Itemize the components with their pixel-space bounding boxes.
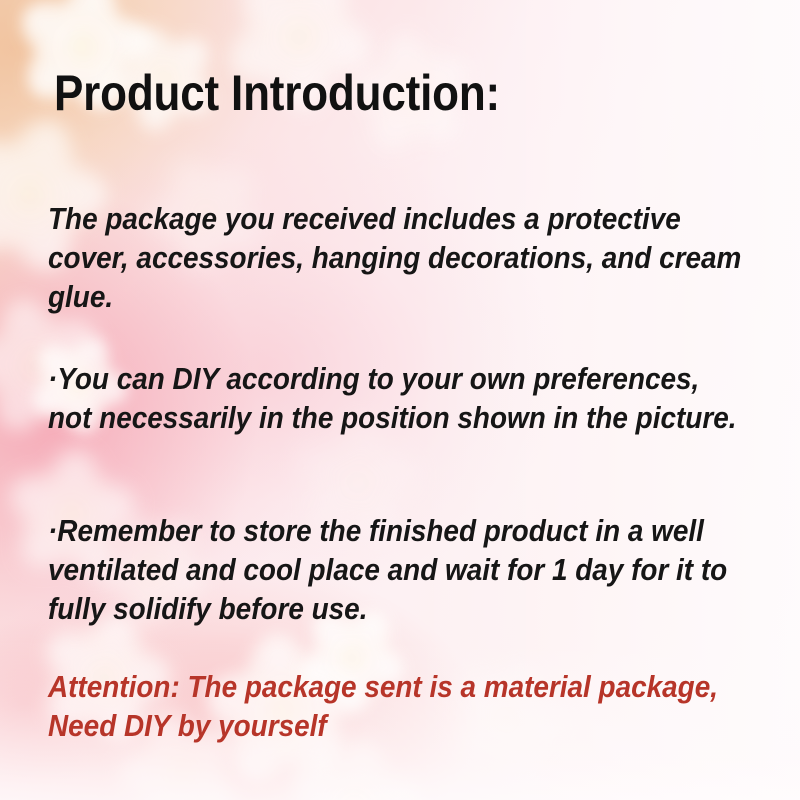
paragraph-storage-instructions: ·Remember to store the finished product … bbox=[48, 512, 743, 629]
document-content: Product Introduction: The package you re… bbox=[0, 0, 800, 800]
paragraph-package-contents: The package you received includes a prot… bbox=[48, 200, 743, 317]
paragraph-attention-notice: Attention: The package sent is a materia… bbox=[48, 668, 743, 746]
paragraph-diy-preferences: ·You can DIY according to your own prefe… bbox=[48, 360, 743, 438]
product-introduction-page: Product Introduction: The package you re… bbox=[0, 0, 800, 800]
page-title: Product Introduction: bbox=[54, 64, 500, 122]
